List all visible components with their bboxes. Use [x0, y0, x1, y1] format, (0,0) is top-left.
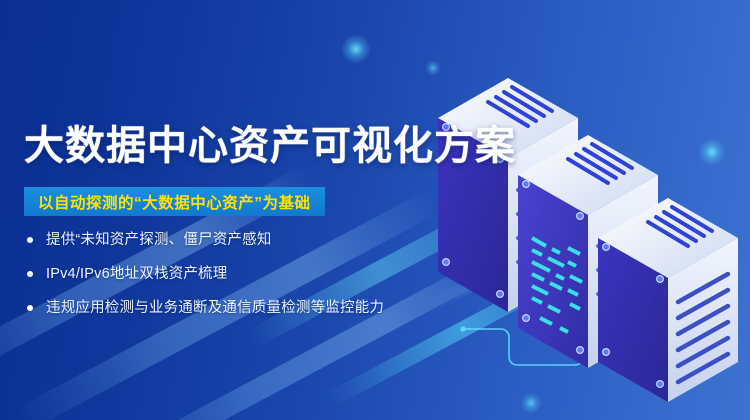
banner-content: 大数据中心资产可视化方案 以自动探测的“大数据中心资产”为基础 提供“未知资产探… — [0, 0, 440, 420]
promo-banner: 大数据中心资产可视化方案 以自动探测的“大数据中心资产”为基础 提供“未知资产探… — [0, 0, 750, 420]
server-rack-3 — [598, 198, 738, 402]
server-rack-illustration — [410, 50, 750, 420]
list-item: 提供“未知资产探测、僵尸资产感知 — [24, 230, 424, 250]
bullet-dot-icon — [27, 305, 33, 311]
page-title: 大数据中心资产可视化方案 — [24, 122, 516, 170]
list-item-label: 提供“未知资产探测、僵尸资产感知 — [46, 232, 272, 248]
subtitle-badge: 以自动探测的“大数据中心资产”为基础 — [24, 187, 325, 216]
list-item-label: 违规应用检测与业务通断及通信质量检测等监控能力 — [46, 300, 384, 316]
bullet-dot-icon — [27, 237, 33, 243]
list-item: IPv4/IPv6地址双栈资产梳理 — [24, 264, 424, 284]
subtitle-badge-label: 以自动探测的“大数据中心资产”为基础 — [38, 191, 311, 213]
list-item: 违规应用检测与业务通断及通信质量检测等监控能力 — [24, 298, 424, 318]
bullet-dot-icon — [27, 271, 33, 277]
list-item-label: IPv4/IPv6地址双栈资产梳理 — [46, 266, 227, 282]
server-racks-icon — [410, 50, 750, 420]
feature-list: 提供“未知资产探测、僵尸资产感知 IPv4/IPv6地址双栈资产梳理 违规应用检… — [24, 230, 424, 332]
